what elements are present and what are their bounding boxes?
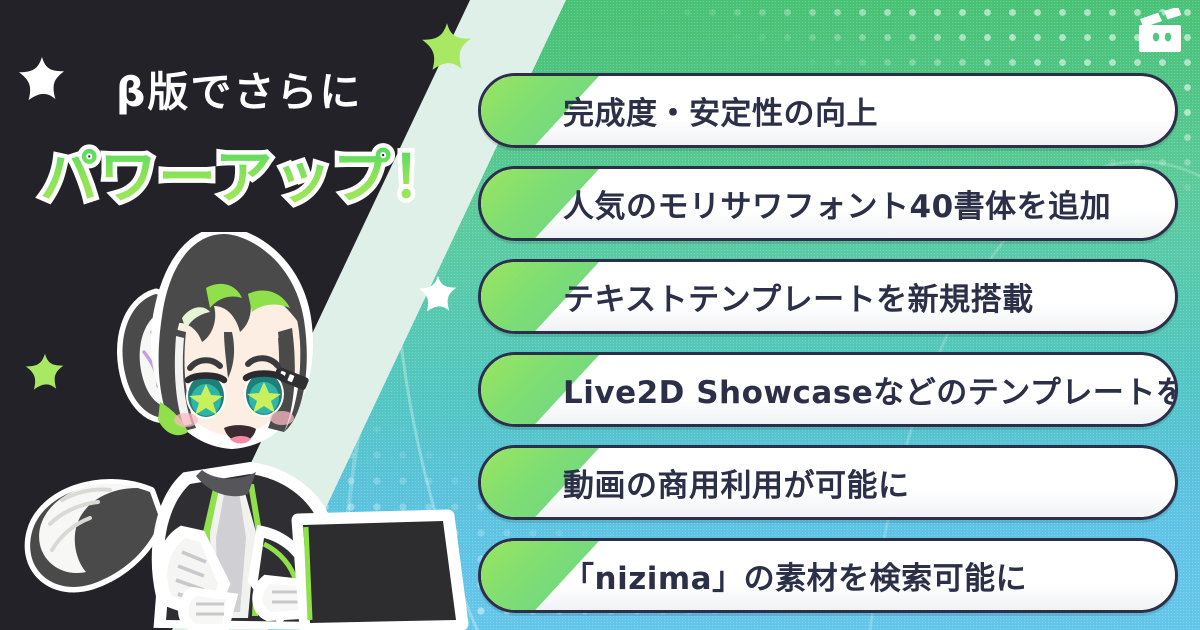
feature-pill[interactable]: Live2D Showcaseなどのテンプレートを追加 [478,352,1178,427]
clapperboard-icon [1138,8,1186,54]
promo-banner: β版でさらに パワーアップ！ パワーアップ！ [0,0,1200,630]
feature-label: テキストテンプレートを新規搭載 [563,274,1034,319]
chibi-wolf-girl-with-laptop [10,232,470,630]
feature-pill[interactable]: 動画の商用利用が可能に [478,445,1178,520]
feature-label: 完成度・安定性の向上 [563,88,878,133]
feature-label: 動画の商用利用が可能に [563,460,910,505]
star-white-top-left [18,55,66,103]
feature-pill[interactable]: 人気のモリサワフォント40書体を追加 [478,166,1178,241]
feature-pill[interactable]: 「nizima」の素材を検索可能に [478,538,1178,613]
feature-pill[interactable]: テキストテンプレートを新規搭載 [478,259,1178,334]
headline-title: パワーアップ！ [40,130,451,214]
feature-label: 「nizima」の素材を検索可能に [563,553,1027,598]
feature-label: Live2D Showcaseなどのテンプレートを追加 [563,367,1178,412]
star-green-top [421,21,473,73]
feature-label: 人気のモリサワフォント40書体を追加 [563,181,1111,226]
feature-pill[interactable]: 完成度・安定性の向上 [478,73,1178,148]
headline-subtitle: β版でさらに [116,58,362,118]
